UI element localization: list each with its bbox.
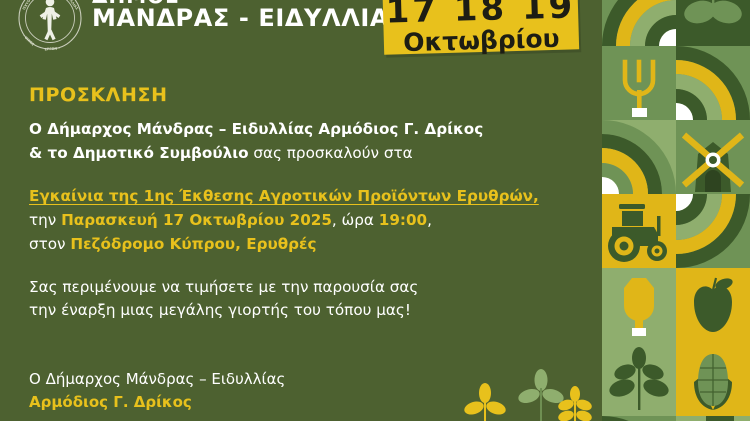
invitation-body: ΠΡΟΣΚΛΗΣΗ Ο Δήμαρχος Μάνδρας – Ειδυλλίας…: [29, 84, 569, 323]
poster-root: ΙΣΧΥΟΣ ΕΡΓΩΝ · ΕΙΔΥΛΛΙΑΣ · ΟΙΚΟΣ · ΔΗΜΟΣ…: [0, 0, 750, 421]
tile-arc-1: [676, 46, 750, 120]
closing-line1: Σας περιμένουμε να τιμήσετε με την παρου…: [29, 276, 569, 300]
intro-line2-bold: & το Δημοτικό Συμβούλιο: [29, 144, 249, 162]
when-suffix: ,: [427, 211, 432, 229]
sprout-yellow-right: [557, 386, 593, 421]
invitation-intro-line2: & το Δημοτικό Συμβούλιο σας προσκαλούν σ…: [29, 142, 569, 166]
svg-text:ΕΡΓΩΝ ·: ΕΡΓΩΝ ·: [44, 46, 59, 51]
signature-block: Ο Δήμαρχος Μάνδρας – Ειδυλλίας Αρμόδιος …: [29, 368, 285, 414]
when-prefix: την: [29, 211, 61, 229]
tile-corn: [676, 342, 750, 416]
intro-line1-text: Ο Δήμαρχος Μάνδρας – Ειδυλλίας Αρμόδιος …: [29, 120, 483, 138]
tile-arc-0: [602, 0, 676, 46]
tile-olive-top: [676, 0, 750, 46]
tile-apple: [676, 268, 750, 342]
where-venue: Πεζόδρομο Κύπρου, Ερυθρές: [70, 235, 316, 253]
tile-shovel: [602, 268, 676, 342]
event-title: Εγκαίνια της 1ης Έκθεσης Αγροτικών Προϊό…: [29, 185, 569, 209]
tile-arc-5: [676, 416, 750, 421]
date-month: Οκτωβρίου: [384, 25, 580, 57]
tile-tractor: [602, 194, 676, 268]
tile-arc-3: [676, 194, 750, 268]
page-title: ΔΗΜΟΣ ΜΑΝΔΡΑΣ - ΕΙΔΥΛΛΙΑΣ: [92, 0, 406, 31]
tile-plant: [602, 342, 676, 416]
sprout-yellow-left: [463, 383, 508, 421]
event-where: στον Πεζόδρομο Κύπρου, Ερυθρές: [29, 233, 569, 257]
tile-arc-2: [602, 120, 676, 194]
signature-role: Ο Δήμαρχος Μάνδρας – Ειδυλλίας: [29, 368, 285, 391]
where-prefix: στον: [29, 235, 70, 253]
invitation-intro-line1: Ο Δήμαρχος Μάνδρας – Ειδυλλίας Αρμόδιος …: [29, 118, 569, 142]
sprout-decoration: [455, 368, 605, 421]
when-date: Παρασκευή 17 Οκτωβρίου 2025: [61, 211, 332, 229]
date-badge: 17 18 19 Οκτωβρίου: [382, 0, 579, 55]
when-time: 19:00: [379, 211, 427, 229]
spacer-2: [29, 257, 569, 276]
tile-arc-4: [602, 416, 676, 421]
municipality-seal-icon: ΙΣΧΥΟΣ ΕΡΓΩΝ · ΕΙΔΥΛΛΙΑΣ · ΟΙΚΟΣ ·: [16, 0, 84, 52]
tile-windmill: [676, 120, 750, 194]
closing-line2: την έναρξη μιας μεγάλης γιορτής του τόπο…: [29, 299, 569, 323]
invitation-heading: ΠΡΟΣΚΛΗΣΗ: [29, 84, 569, 106]
decorative-tile-grid: [602, 0, 750, 421]
intro-line2-rest: σας προσκαλούν στα: [249, 144, 413, 162]
tile-pitchfork: [602, 46, 676, 120]
signature-name: Αρμόδιος Γ. Δρίκος: [29, 391, 285, 414]
spacer-1: [29, 165, 569, 185]
when-mid: , ώρα: [332, 211, 379, 229]
title-municipality: ΜΑΝΔΡΑΣ - ΕΙΔΥΛΛΙΑΣ: [92, 6, 406, 30]
event-when: την Παρασκευή 17 Οκτωβρίου 2025, ώρα 19:…: [29, 209, 569, 233]
sprout-green-stem: [540, 388, 542, 421]
